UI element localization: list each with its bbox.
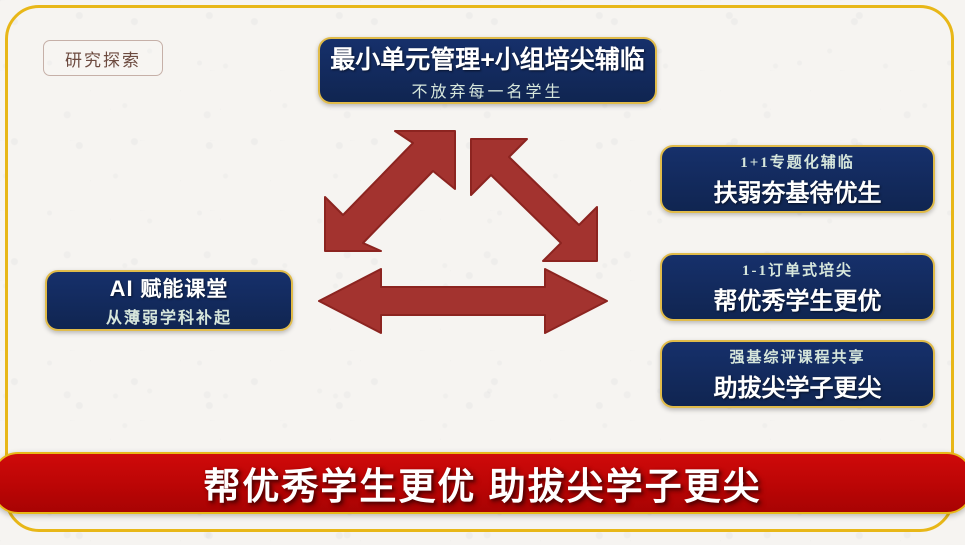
left-concept-title-rest: 赋能课堂 [140,277,228,301]
horizontal-arrow [316,266,610,336]
right-concept-label-1: 1+1专题化辅临 [740,151,855,172]
right-concept-title-2: 帮优秀学生更优 [714,281,882,316]
bottom-banner: 帮优秀学生更优 助拔尖学子更尖 [0,452,965,514]
top-concept-title: 最小单元管理+小组培尖辅临 [330,40,645,76]
diagonal-up-right-arrow [322,128,458,254]
left-concept-subtitle: 从薄弱学科补起 [106,304,232,328]
right-concept-box-3[interactable]: 强基综评课程共享 助拔尖学子更尖 [660,340,935,408]
top-concept-box[interactable]: 最小单元管理+小组培尖辅临 不放弃每一名学生 [318,37,657,104]
top-concept-subtitle: 不放弃每一名学生 [411,78,563,102]
slide-canvas: 研究探索 最小单元管理+小组培尖辅临 不放弃每一名学生 AI 赋能课堂 从薄弱学… [0,0,965,545]
right-concept-box-2[interactable]: 1-1订单式培尖 帮优秀学生更优 [660,253,935,321]
left-concept-title: AI 赋能课堂 [110,273,229,303]
right-concept-box-1[interactable]: 1+1专题化辅临 扶弱夯基待优生 [660,145,935,213]
section-badge-label: 研究探索 [65,46,141,71]
right-concept-label-2: 1-1订单式培尖 [742,259,853,280]
right-concept-label-3: 强基综评课程共享 [729,346,865,367]
diagonal-down-right-arrow [468,136,608,262]
left-concept-title-prefix: AI [110,276,134,301]
left-concept-box[interactable]: AI 赋能课堂 从薄弱学科补起 [45,270,293,331]
right-concept-title-3: 助拔尖学子更尖 [714,368,882,403]
bottom-banner-text: 帮优秀学生更优 助拔尖学子更尖 [203,456,761,510]
right-concept-title-1: 扶弱夯基待优生 [714,173,882,208]
section-badge: 研究探索 [43,40,163,76]
